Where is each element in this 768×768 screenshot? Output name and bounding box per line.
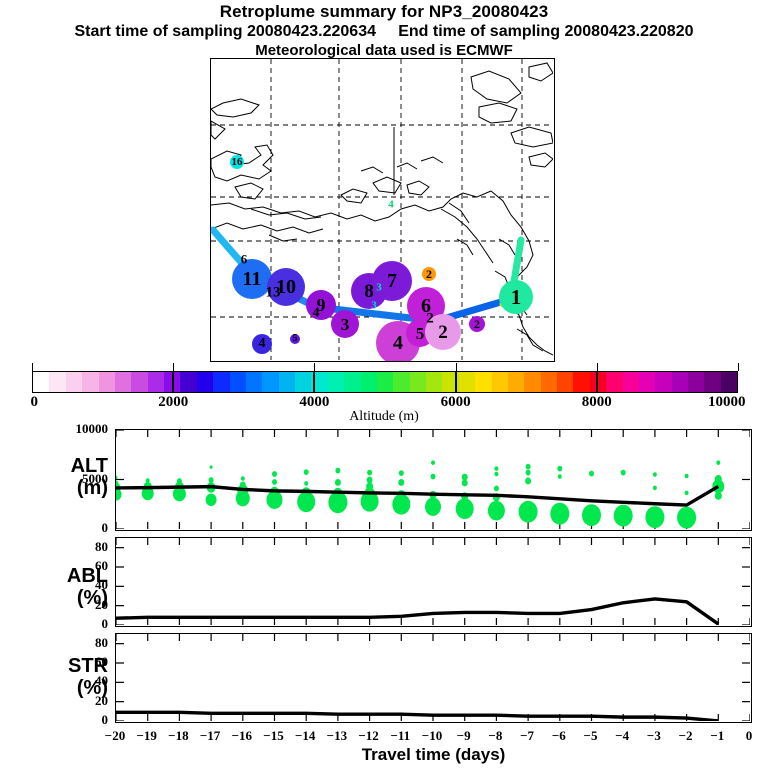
alt-bubble: [550, 503, 569, 525]
map-marker-label: 1: [511, 287, 522, 308]
alt-bubble: [272, 479, 277, 485]
map-marker[interactable]: 4: [316, 313, 317, 314]
colorbar-swatch: [492, 372, 508, 392]
map-marker[interactable]: 3: [331, 310, 359, 338]
colorbar-swatch: [672, 372, 688, 392]
colorbar-swatch: [573, 372, 589, 392]
colorbar-swatch: [393, 372, 409, 392]
y-tick-label: 40: [40, 577, 108, 593]
map-marker[interactable]: 10: [267, 268, 305, 306]
alt-bubble: [425, 498, 441, 516]
map-marker[interactable]: 16: [230, 155, 244, 169]
alt-bubble: [582, 504, 601, 526]
map-marker-label: 2: [474, 318, 480, 330]
str-plot-graphics: [116, 634, 750, 721]
map-marker[interactable]: 1: [499, 280, 533, 314]
alt-bubble: [462, 480, 468, 487]
alt-bubble: [367, 470, 372, 476]
map-marker-label: 3: [341, 316, 350, 333]
alt-bubble: [431, 460, 435, 465]
alt-bubble: [614, 505, 633, 527]
colorbar-swatch: [99, 372, 115, 392]
alt-bubble: [304, 481, 308, 486]
map-marker-label: 5: [416, 325, 425, 342]
colorbar-swatch: [410, 372, 426, 392]
alt-bubble: [335, 479, 341, 486]
colorbar-swatch: [230, 372, 246, 392]
map-marker-label: 6: [421, 296, 431, 316]
altitude-colorbar[interactable]: [32, 371, 738, 393]
map-marker-label: 16: [232, 157, 243, 168]
colorbar-swatch: [148, 372, 164, 392]
x-tick-label: −7: [520, 728, 534, 744]
x-tick-label: −18: [168, 728, 188, 744]
colorbar-swatch: [426, 372, 442, 392]
alt-bubble: [399, 470, 404, 476]
colorbar-divider: [455, 371, 457, 393]
map-marker[interactable]: 4: [391, 205, 392, 206]
alt-bubble: [685, 491, 689, 496]
colorbar-swatch: [475, 372, 491, 392]
y-tick-label: 40: [40, 673, 108, 689]
map-marker[interactable]: 3: [379, 288, 380, 289]
map-marker-label: 7: [387, 271, 397, 291]
colorbar-swatch: [33, 372, 49, 392]
colorbar-swatch: [49, 372, 65, 392]
time-gap: [376, 23, 398, 40]
retroplume-map[interactable]: 164116101394387334546522221: [210, 58, 555, 362]
alt-bubble: [272, 471, 277, 477]
alt-bubble: [653, 486, 657, 491]
y-tick-label: 10000: [40, 421, 108, 437]
colorbar-swatch: [213, 372, 229, 392]
map-marker-label: 10: [276, 277, 296, 297]
colorbar-swatch: [508, 372, 524, 392]
map-marker[interactable]: 2: [422, 267, 436, 281]
alt-bubble: [206, 493, 217, 506]
alt-bubble: [677, 507, 696, 529]
map-marker-label: 5: [293, 334, 298, 344]
colorbar-swatch: [295, 372, 311, 392]
y-tick-label: 80: [40, 539, 108, 555]
map-marker[interactable]: 3: [374, 306, 375, 307]
alt-bubble: [715, 492, 722, 500]
alt-plot[interactable]: [115, 429, 752, 531]
x-tick-label: −12: [358, 728, 378, 744]
colorbar-swatch: [524, 372, 540, 392]
start-time-label: Start time of sampling 20080423.220634: [75, 23, 377, 40]
colorbar-swatch: [639, 372, 655, 392]
colorbar-tick: [314, 363, 315, 371]
colorbar-swatch: [197, 372, 213, 392]
alt-bubble: [304, 469, 309, 475]
alt-bubble: [297, 491, 315, 512]
colorbar-divider: [596, 371, 598, 393]
alt-bubble: [685, 474, 689, 479]
colorbar-title: Altitude (m): [0, 409, 768, 425]
colorbar-swatch: [377, 372, 393, 392]
alt-bubble: [525, 478, 531, 485]
map-marker[interactable]: 9: [306, 290, 336, 320]
y-tick-label: 20: [40, 597, 108, 613]
map-marker-label: 4: [393, 333, 403, 353]
page-title: Retroplume summary for NP3_20080423: [0, 2, 768, 22]
colorbar-swatch: [66, 372, 82, 392]
alt-bubble: [328, 491, 347, 513]
map-marker-label: 2: [438, 323, 448, 342]
x-tick-label: −15: [263, 728, 283, 744]
colorbar-swatch: [688, 372, 704, 392]
alt-bubble: [716, 460, 720, 465]
alt-bubble: [267, 491, 283, 509]
alt-bubble: [621, 470, 626, 476]
alt-bubble: [494, 486, 499, 492]
colorbar-swatch: [246, 372, 262, 392]
map-marker[interactable]: 7: [372, 261, 412, 301]
x-tick-label: −16: [232, 728, 252, 744]
colorbar-swatch: [279, 372, 295, 392]
y-tick-label: 60: [40, 654, 108, 670]
colorbar-divider: [313, 371, 315, 393]
colorbar-swatch: [541, 372, 557, 392]
map-marker-label: 2: [426, 268, 432, 280]
alt-bubble: [526, 464, 531, 470]
alt-bubble: [209, 477, 214, 483]
x-tick-label: −4: [615, 728, 629, 744]
x-tick-label: −13: [327, 728, 347, 744]
colorbar-swatch: [361, 372, 377, 392]
alt-bubble: [241, 476, 245, 481]
map-marker[interactable]: 13: [273, 293, 274, 294]
colorbar-swatch: [655, 372, 671, 392]
map-marker[interactable]: 5: [290, 334, 300, 344]
map-marker-label: 11: [243, 269, 262, 289]
alt-bubble: [519, 501, 538, 523]
x-tick-label: −8: [488, 728, 502, 744]
y-tick-label: 80: [40, 635, 108, 651]
alt-bubble: [392, 494, 410, 515]
map-marker[interactable]: 4: [252, 334, 272, 354]
alt-bubble: [462, 474, 468, 481]
colorbar-swatch: [459, 372, 475, 392]
y-tick-label: 60: [40, 558, 108, 574]
colorbar-swatch: [82, 372, 98, 392]
map-marker[interactable]: 2: [469, 316, 485, 332]
sampling-times: Start time of sampling 20080423.220634 E…: [0, 22, 768, 42]
map-graphics: [211, 59, 553, 360]
x-tick-label: −6: [552, 728, 566, 744]
map-marker-label: 9: [317, 296, 326, 314]
colorbar-swatch: [704, 372, 720, 392]
map-marker[interactable]: 2: [425, 314, 461, 350]
alt-bubble: [653, 472, 657, 477]
x-tick-label: −5: [584, 728, 598, 744]
y-tick-label: 20: [40, 693, 108, 709]
alt-bubble: [488, 501, 505, 521]
alt-bubble: [335, 468, 340, 474]
alt-bubble: [456, 498, 474, 519]
map-marker[interactable]: 2: [430, 319, 431, 320]
colorbar-swatch: [328, 372, 344, 392]
colorbar-swatch: [623, 372, 639, 392]
alt-bubble: [210, 465, 213, 468]
alt-bubble: [557, 466, 562, 472]
map-marker[interactable]: 6: [244, 259, 245, 260]
x-tick-label: −14: [295, 728, 315, 744]
str-plot[interactable]: [115, 633, 752, 723]
x-tick-label: −10: [422, 728, 442, 744]
x-tick-label: −11: [390, 728, 410, 744]
colorbar-swatch: [180, 372, 196, 392]
alt-bubble: [494, 466, 498, 471]
colorbar-swatch: [131, 372, 147, 392]
x-tick-label: −17: [200, 728, 220, 744]
y-tick-label: 5000: [40, 471, 108, 487]
alt-bubble: [431, 474, 436, 480]
end-time-label: End time of sampling 20080423.220820: [398, 23, 693, 40]
alt-bubble: [645, 506, 664, 528]
colorbar-swatch: [557, 372, 573, 392]
colorbar-swatch: [606, 372, 622, 392]
colorbar-swatch: [721, 372, 737, 392]
colorbar-tick: [32, 363, 33, 371]
alt-bubble: [116, 488, 122, 501]
map-marker[interactable]: 11: [232, 259, 272, 299]
x-tick-label: −19: [136, 728, 156, 744]
x-tick-label: −1: [710, 728, 724, 744]
alt-bubble: [236, 490, 250, 506]
colorbar-tick: [173, 363, 174, 371]
alt-bubble: [589, 471, 594, 477]
x-tick-label: −3: [647, 728, 661, 744]
colorbar-swatch: [262, 372, 278, 392]
x-axis-title: Travel time (days): [115, 745, 752, 765]
y-tick-label: 0: [40, 520, 108, 536]
map-marker-label: 4: [259, 337, 266, 351]
alt-bubble: [116, 476, 118, 479]
colorbar-tick: [597, 363, 598, 371]
header-block: Retroplume summary for NP3_20080423 Star…: [0, 2, 768, 60]
alt-plot-graphics: [116, 430, 750, 529]
colorbar-swatch: [344, 372, 360, 392]
y-tick-label: 0: [40, 616, 108, 632]
abl-plot[interactable]: [115, 537, 752, 627]
alt-bubble: [398, 479, 404, 486]
colorbar-tick: [738, 363, 739, 371]
colorbar-divider: [172, 371, 174, 393]
alt-bubble: [526, 470, 531, 476]
x-tick-label: 0: [746, 728, 753, 744]
y-tick-label: 0: [40, 712, 108, 728]
x-tick-label: −20: [105, 728, 125, 744]
x-tick-label: −2: [679, 728, 693, 744]
abl-plot-graphics: [116, 538, 750, 625]
alt-bubble: [712, 480, 724, 494]
colorbar-swatch: [590, 372, 606, 392]
alt-bubble: [494, 472, 498, 477]
x-tick-label: −9: [457, 728, 471, 744]
colorbar-tick: [456, 363, 457, 371]
colorbar-swatch: [115, 372, 131, 392]
alt-bubble: [558, 474, 562, 479]
